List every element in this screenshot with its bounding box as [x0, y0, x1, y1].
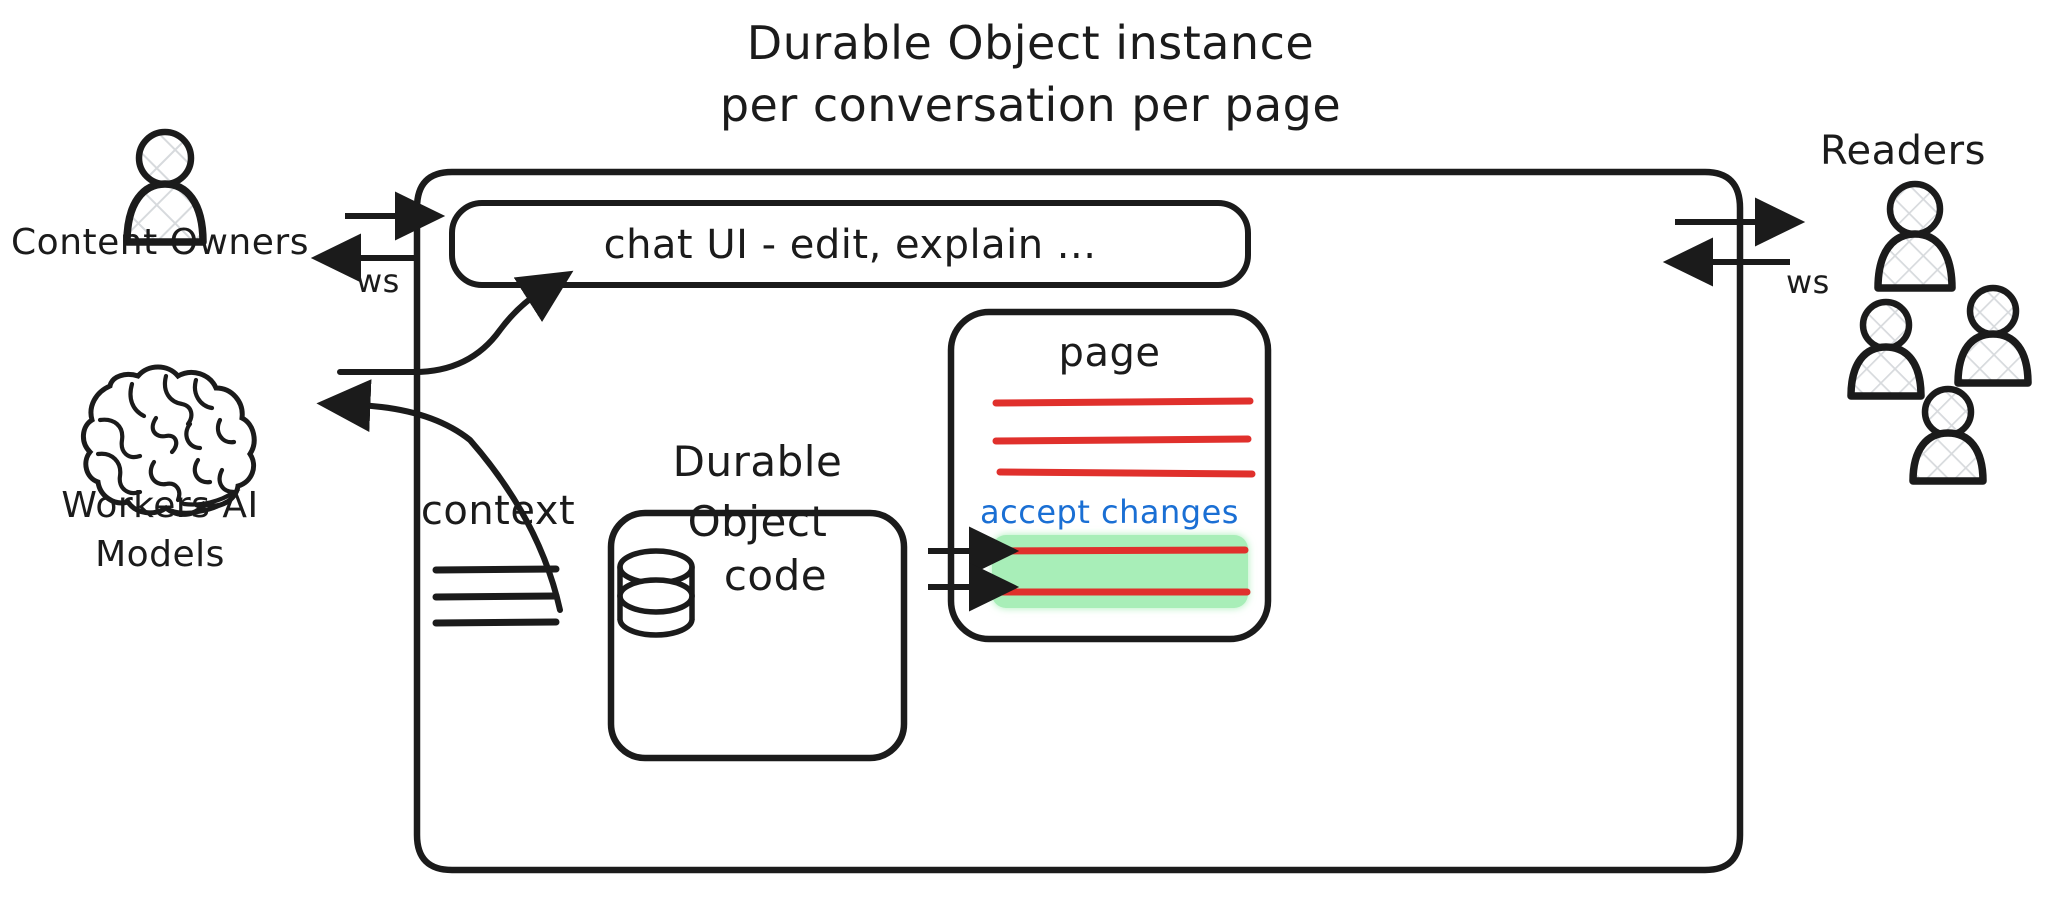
reader-person-4: [1913, 389, 1983, 481]
accepted-changes-highlight: [992, 535, 1248, 608]
reader-person-2: [1958, 288, 2028, 383]
context-lines: [436, 569, 556, 623]
durable-object-line1: Durable: [611, 437, 904, 486]
page-label: page: [951, 330, 1268, 376]
chat-ui-label: chat UI - edit, explain ...: [452, 222, 1248, 268]
person-group-icon: [1851, 184, 2028, 481]
arrow-context-to-ai-up: [340, 292, 540, 372]
workers-ai-label-line2: Models: [20, 534, 300, 575]
durable-object-line2: Object: [611, 497, 904, 546]
diagram-svg: [0, 0, 2061, 910]
page-title-line2: per conversation per page: [0, 78, 2061, 132]
ws-label-right: ws: [1786, 263, 1830, 301]
diagram-canvas: Durable Object instance per conversation…: [0, 0, 2061, 910]
accept-changes-label: accept changes: [951, 493, 1268, 531]
reader-person-1: [1878, 184, 1952, 288]
ws-label-left: ws: [356, 262, 400, 300]
page-title-line1: Durable Object instance: [0, 16, 2061, 70]
context-label: context: [410, 488, 586, 534]
content-owners-arrows: [345, 216, 420, 258]
workers-ai-label-line1: Workers AI: [20, 485, 300, 526]
durable-object-line3: code: [629, 551, 922, 600]
workers-ai-arrows: [340, 292, 560, 610]
content-owners-label: Content Owners: [10, 222, 310, 263]
readers-label: Readers: [1820, 128, 1986, 174]
reader-person-3: [1851, 302, 1921, 396]
